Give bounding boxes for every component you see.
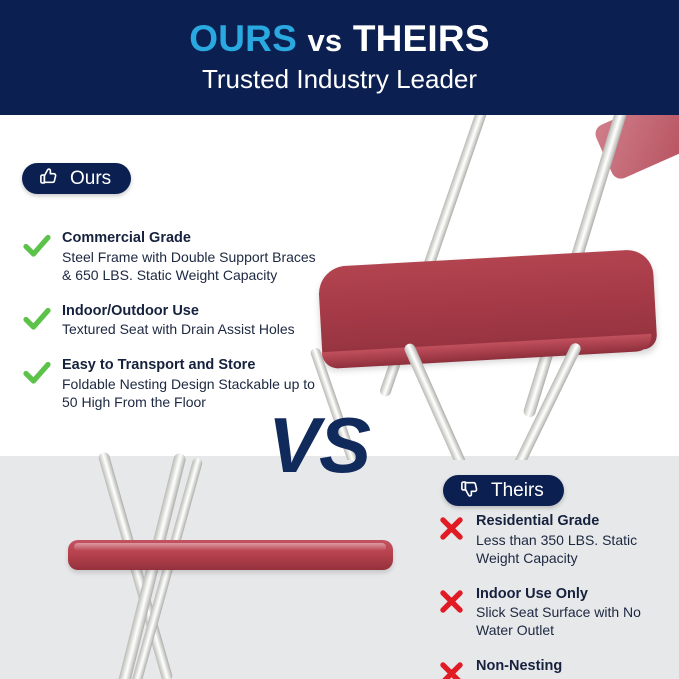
thumbs-up-icon (36, 165, 59, 193)
check-icon (22, 229, 62, 264)
feature-desc: Less than 350 LBS. Static Weight Capacit… (476, 532, 678, 568)
chair-seat-gloss (74, 543, 386, 551)
check-icon (22, 302, 62, 337)
check-icon (22, 356, 62, 391)
feature-desc: Textured Seat with Drain Assist Holes (62, 321, 322, 339)
list-item: Non-Nesting Does Not Stack Efficiently (438, 657, 678, 679)
list-item: Easy to Transport and Store Foldable Nes… (22, 356, 322, 412)
feature-title: Indoor Use Only (476, 586, 678, 604)
badge-theirs-label: Theirs (491, 480, 544, 502)
title-ours: OURS (189, 18, 297, 59)
cross-icon (438, 512, 476, 547)
badge-ours-label: Ours (70, 168, 111, 190)
feature-desc: Steel Frame with Double Support Braces &… (62, 249, 322, 285)
title-theirs: THEIRS (353, 18, 490, 59)
feature-list-ours: Commercial Grade Steel Frame with Double… (22, 229, 322, 429)
feature-desc: Foldable Nesting Design Stackable up to … (62, 376, 322, 412)
comparison-infographic: OURS vs THEIRS Trusted Industry Leader V… (0, 0, 679, 679)
page-title: OURS vs THEIRS (189, 20, 489, 59)
feature-list-theirs: Residential Grade Less than 350 LBS. Sta… (438, 512, 678, 679)
feature-title: Residential Grade (476, 513, 678, 531)
feature-title: Indoor/Outdoor Use (62, 303, 322, 321)
thumbs-down-icon (457, 477, 480, 505)
feature-desc: Slick Seat Surface with No Water Outlet (476, 604, 678, 640)
list-item: Residential Grade Less than 350 LBS. Sta… (438, 512, 678, 568)
badge-ours[interactable]: Ours (22, 163, 131, 194)
badge-theirs[interactable]: Theirs (443, 475, 564, 506)
cross-icon (438, 657, 476, 679)
feature-title: Easy to Transport and Store (62, 357, 322, 375)
header-banner: OURS vs THEIRS Trusted Industry Leader (0, 0, 679, 115)
feature-title: Commercial Grade (62, 230, 322, 248)
page-subtitle: Trusted Industry Leader (202, 64, 477, 95)
cross-icon (438, 585, 476, 620)
title-vs: vs (307, 23, 342, 58)
list-item: Indoor Use Only Slick Seat Surface with … (438, 585, 678, 641)
list-item: Commercial Grade Steel Frame with Double… (22, 229, 322, 285)
list-item: Indoor/Outdoor Use Textured Seat with Dr… (22, 302, 322, 340)
feature-title: Non-Nesting (476, 658, 678, 676)
